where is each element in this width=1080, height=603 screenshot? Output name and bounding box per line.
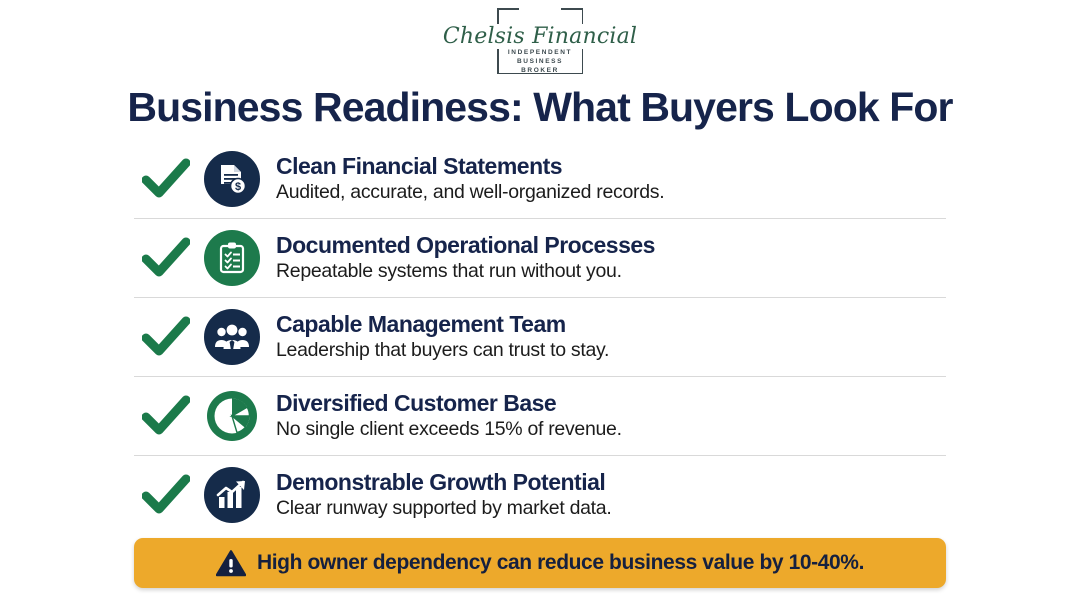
readiness-list: $ Clean Financial Statements Audited, ac… <box>134 140 946 534</box>
item-icon-badge <box>198 467 266 523</box>
item-subtitle: Leadership that buyers can trust to stay… <box>276 338 609 363</box>
warning-banner-text: High owner dependency can reduce busines… <box>257 551 864 575</box>
logo-frame: Chelsis Financial INDEPENDENT BUSINESS B… <box>497 8 583 74</box>
item-text-block: Diversified Customer Base No single clie… <box>266 390 622 442</box>
growth-chart-icon <box>204 467 260 523</box>
item-subtitle: No single client exceeds 15% of revenue. <box>276 417 622 442</box>
item-title: Demonstrable Growth Potential <box>276 469 611 496</box>
green-check-icon <box>134 237 198 279</box>
document-dollar-icon: $ <box>204 151 260 207</box>
item-title: Diversified Customer Base <box>276 390 622 417</box>
list-item: Capable Management Team Leadership that … <box>134 298 946 377</box>
item-icon-badge <box>198 309 266 365</box>
brand-logo: Chelsis Financial INDEPENDENT BUSINESS B… <box>0 8 1080 74</box>
logo-tagline-line-2: BUSINESS <box>497 57 583 66</box>
green-check-icon <box>134 158 198 200</box>
logo-script-name: Chelsis Financial <box>440 24 640 49</box>
clipboard-checklist-icon <box>204 230 260 286</box>
item-title: Clean Financial Statements <box>276 153 664 180</box>
warning-banner: High owner dependency can reduce busines… <box>134 538 946 588</box>
item-icon-badge <box>198 230 266 286</box>
page-title: Business Readiness: What Buyers Look For <box>0 84 1080 131</box>
people-group-icon <box>204 309 260 365</box>
item-title: Capable Management Team <box>276 311 609 338</box>
list-item: $ Clean Financial Statements Audited, ac… <box>134 140 946 219</box>
list-item: Demonstrable Growth Potential Clear runw… <box>134 456 946 534</box>
pie-chart-icon <box>204 388 260 444</box>
item-subtitle: Clear runway supported by market data. <box>276 496 611 521</box>
logo-tagline-line-3: BROKER <box>497 66 583 75</box>
green-check-icon <box>134 395 198 437</box>
logo-frame-line <box>561 8 583 10</box>
item-text-block: Clean Financial Statements Audited, accu… <box>266 153 664 205</box>
logo-frame-line <box>497 8 519 10</box>
green-check-icon <box>134 316 198 358</box>
logo-tagline: INDEPENDENT BUSINESS BROKER <box>497 48 583 75</box>
green-check-icon <box>134 474 198 516</box>
item-text-block: Documented Operational Processes Repeata… <box>266 232 655 284</box>
item-subtitle: Repeatable systems that run without you. <box>276 259 655 284</box>
logo-tagline-line-1: INDEPENDENT <box>497 48 583 57</box>
item-text-block: Demonstrable Growth Potential Clear runw… <box>266 469 611 521</box>
list-item: Diversified Customer Base No single clie… <box>134 377 946 456</box>
item-title: Documented Operational Processes <box>276 232 655 259</box>
item-text-block: Capable Management Team Leadership that … <box>266 311 609 363</box>
warning-triangle-icon <box>216 550 246 577</box>
svg-text:$: $ <box>235 181 241 193</box>
item-icon-badge: $ <box>198 151 266 207</box>
item-icon-badge <box>198 388 266 444</box>
list-item: Documented Operational Processes Repeata… <box>134 219 946 298</box>
item-subtitle: Audited, accurate, and well-organized re… <box>276 180 664 205</box>
